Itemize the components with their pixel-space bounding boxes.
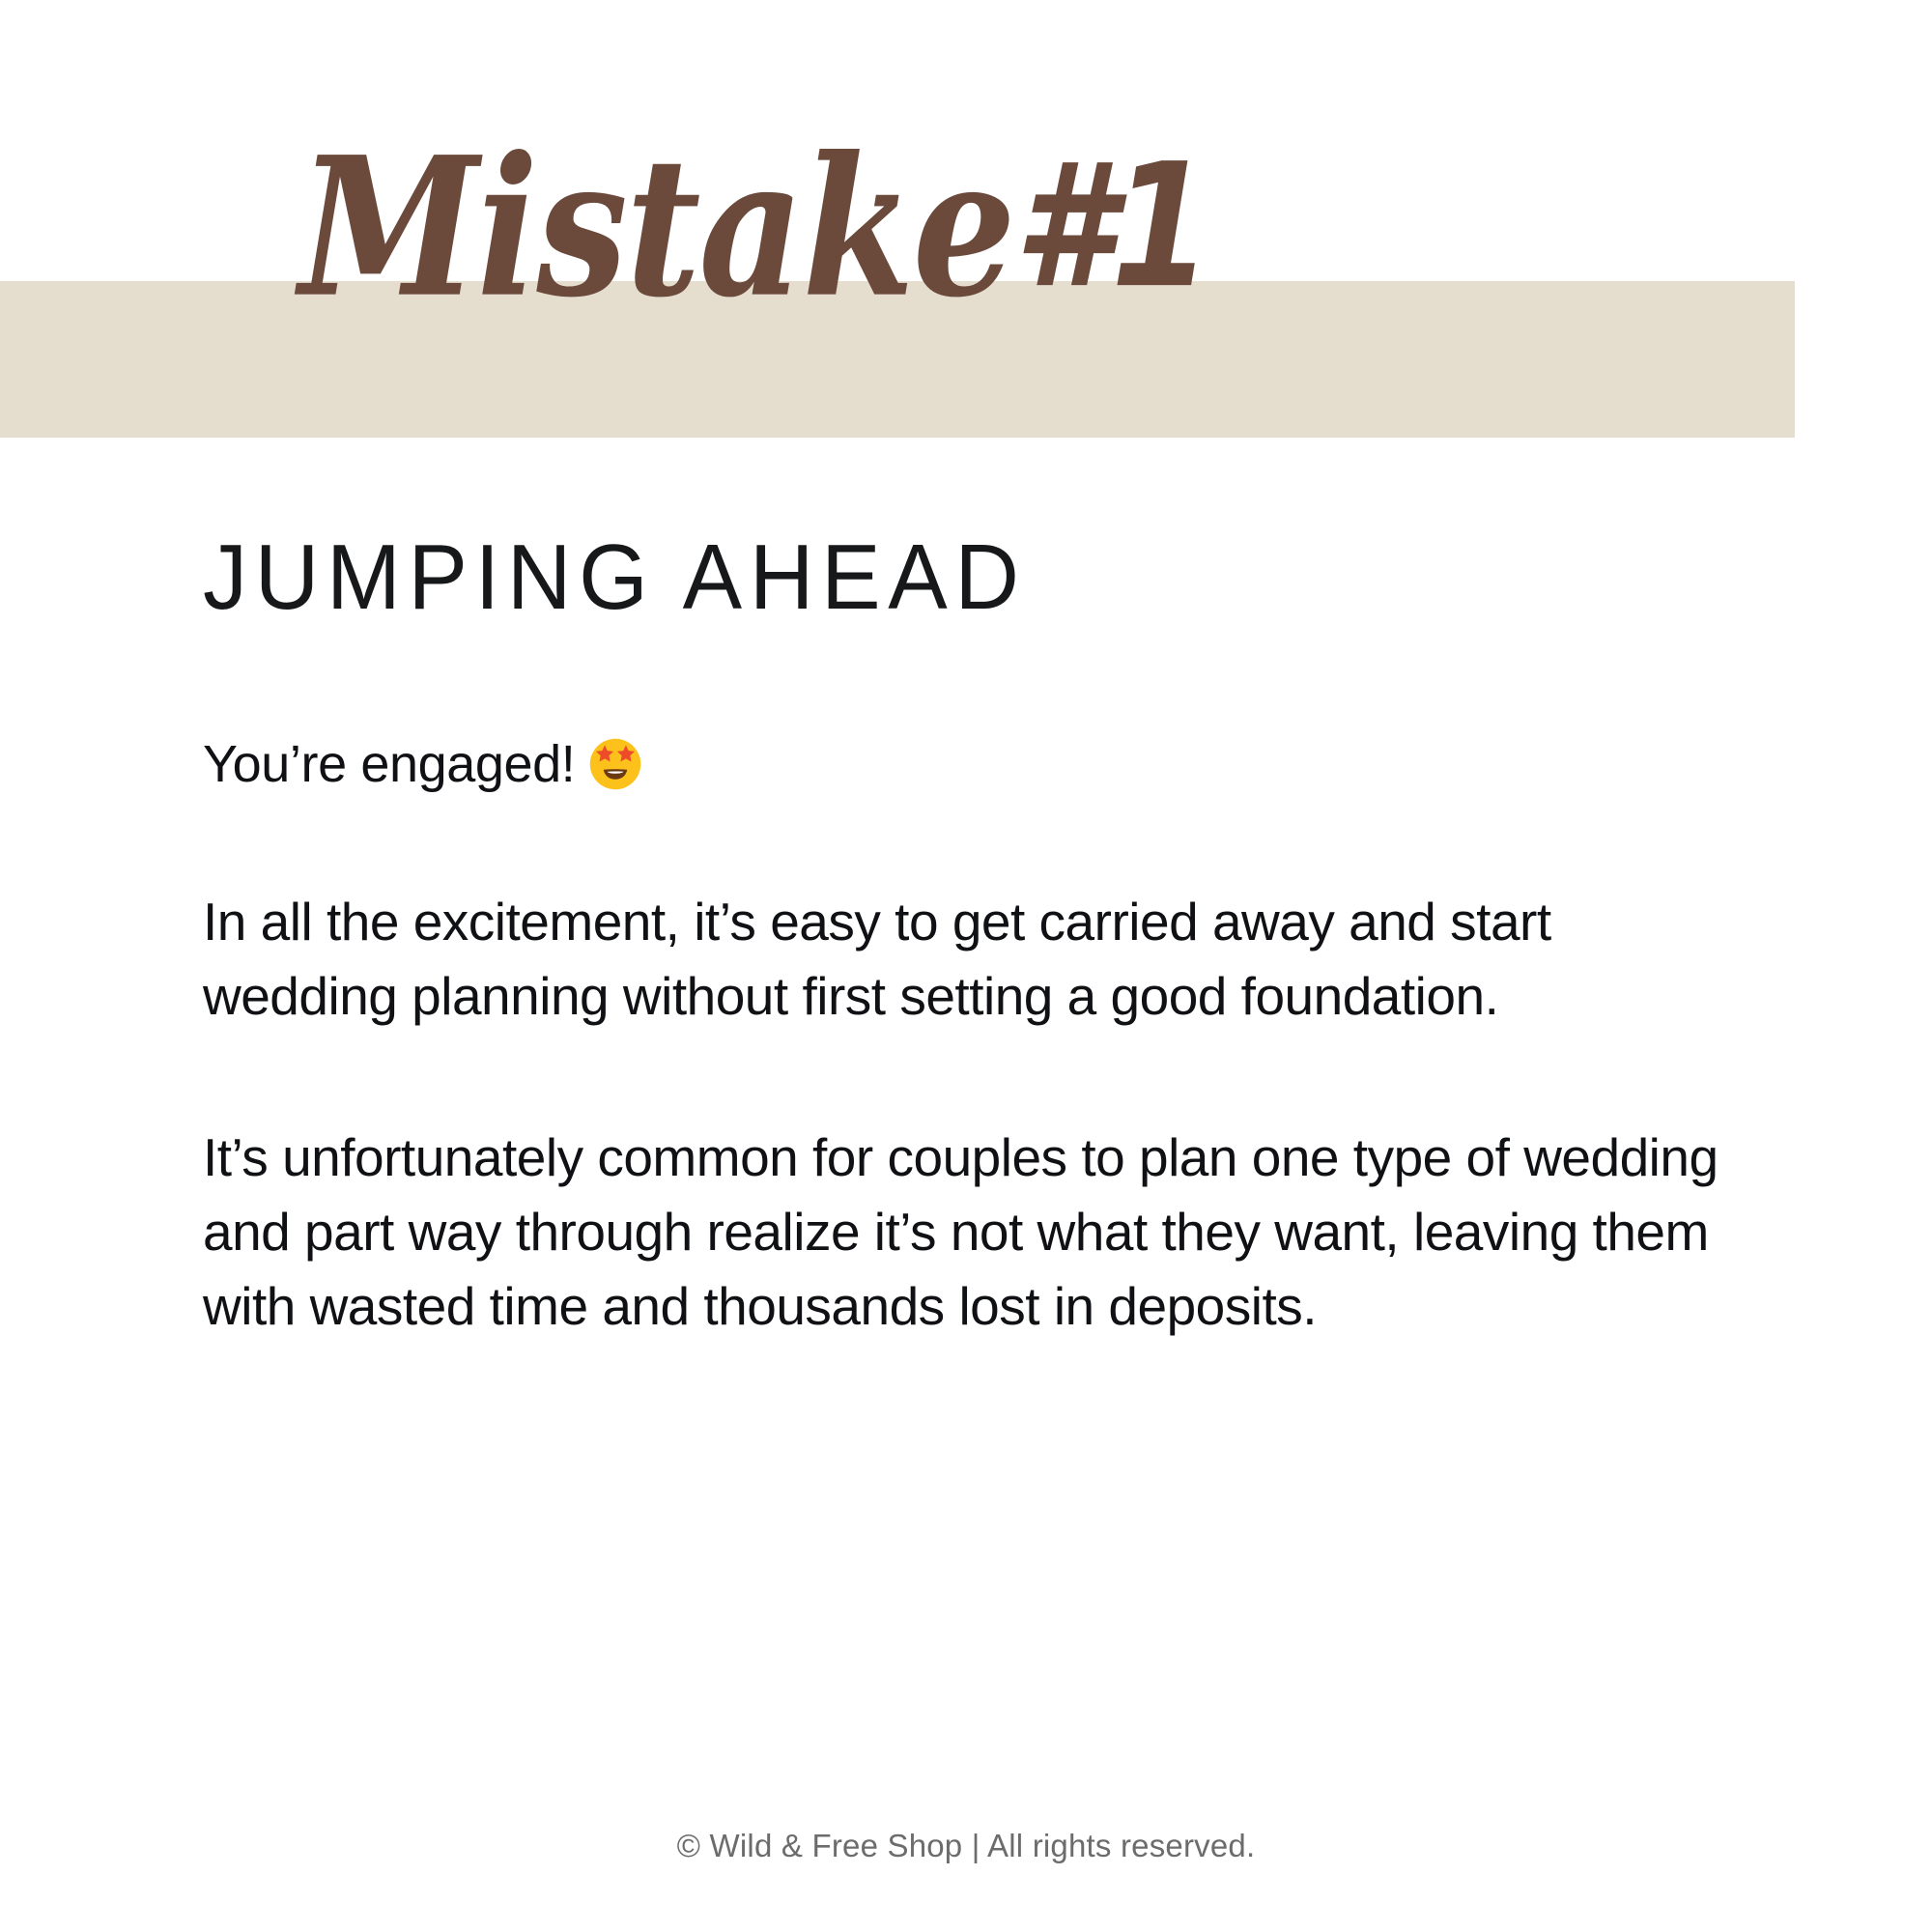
lede-line: You’re engaged! — [203, 729, 1748, 800]
page-title: Mistake #1 — [0, 0, 1449, 454]
star-struck-emoji — [588, 737, 642, 791]
header-zone: Mistake #1 — [0, 0, 1932, 454]
slide-canvas: Mistake #1 JUMPING AHEAD You’re engaged!… — [0, 0, 1932, 1932]
body-paragraph-2: It’s unfortunately common for couples to… — [203, 1121, 1729, 1344]
title-script-word: Mistake — [299, 131, 1014, 323]
title-number: #1 — [1014, 142, 1208, 313]
main-content: JUMPING AHEAD You’re engaged! In all the… — [203, 529, 1748, 1397]
lede-text: You’re engaged! — [203, 729, 575, 800]
footer-copyright: © Wild & Free Shop | All rights reserved… — [0, 1828, 1932, 1864]
body-paragraph-1: In all the excitement, it’s easy to get … — [203, 885, 1729, 1034]
section-heading: JUMPING AHEAD — [203, 529, 1687, 627]
